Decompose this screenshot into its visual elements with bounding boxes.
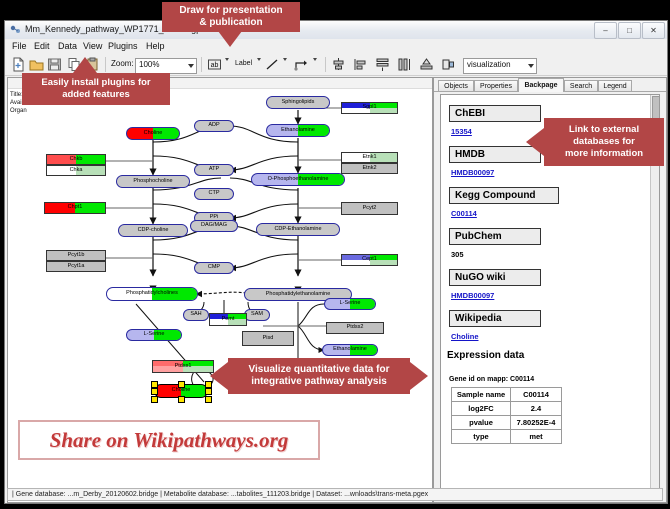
toolbar-separator-2 (201, 57, 202, 72)
node-label: Ethanolamine (333, 347, 367, 353)
db-header-nugo: NuGO wiki (449, 269, 541, 286)
group-icon[interactable] (441, 57, 456, 72)
new-file-icon[interactable] (11, 57, 26, 72)
distribute-vertical-icon[interactable] (375, 57, 390, 72)
node-label: L-Serine (144, 332, 165, 338)
gene-node-etnk2[interactable]: Etnk2 (341, 163, 398, 174)
cell-sample-name-key: Sample name (452, 388, 511, 402)
table-row: log2FC 2.4 (452, 402, 562, 416)
callout-share-wikipathways: Share on Wikipathways.org (18, 420, 320, 460)
save-icon[interactable] (47, 57, 62, 72)
db-header-chebi: ChEBI (449, 105, 541, 122)
gene-node-chka[interactable]: Chka (46, 165, 106, 176)
metabolite-node-phosphatidylcholines[interactable]: Phosphatidylcholines (106, 287, 198, 301)
callout-install-plugins: Easily install plugins for added feature… (22, 73, 170, 105)
callout-arrow-left-links (526, 128, 544, 156)
node-label: Ptdss1 (175, 364, 192, 370)
window-controls[interactable]: – □ ✕ (594, 22, 665, 39)
gene-id-on-mapp: Gene id on mapp: C00114 (449, 376, 534, 383)
app-icon (10, 24, 21, 35)
callout-external-links: Link to external databases for more info… (544, 118, 664, 166)
gene-node-chkb[interactable]: Chkb (46, 154, 106, 165)
share-text: Share on Wikipathways.org (50, 428, 289, 453)
selection-handle-nw[interactable] (151, 381, 158, 388)
node-label: O-Phosphoethanolamine (268, 177, 329, 183)
menu-view[interactable]: View (83, 41, 102, 51)
node-label: CDP-Ethanolamine (274, 227, 321, 233)
gene-node-chpt1[interactable]: Chpt1 (44, 202, 106, 214)
align-center-icon[interactable] (331, 57, 346, 72)
chevron-down-icon (528, 64, 534, 68)
node-label: Pcyt2 (363, 206, 377, 212)
node-label: ATP (209, 167, 219, 173)
metabolite-node-ethanolamine[interactable]: Ethanolamine (266, 124, 330, 137)
svg-text:ab: ab (211, 62, 219, 69)
metabolite-node-l-serine-right[interactable]: L-Serine (324, 298, 376, 310)
node-label: Etnk2 (362, 166, 376, 172)
selection-handle-se[interactable] (205, 396, 212, 403)
visualization-value: visualization (467, 60, 511, 69)
menu-bar: File Edit Data View Plugins Help (5, 39, 667, 55)
selection-handle-n[interactable] (178, 381, 185, 388)
status-bar: | Gene database: ...m_Derby_20120602.bri… (7, 488, 663, 501)
node-label: DAG/MAG (201, 223, 227, 229)
metabolite-node-l-serine-left[interactable]: L-Serine (126, 329, 182, 341)
callout-arrow-down-top (218, 31, 242, 47)
node-label: Sphingolipids (282, 100, 315, 106)
node-label: ADP (208, 123, 219, 129)
textbox-dropdown-icon[interactable] (225, 58, 229, 61)
toolbar-separator-3 (325, 57, 326, 72)
label-button[interactable]: Label (235, 60, 252, 67)
node-label: PPi (210, 215, 219, 221)
gene-node-cept1[interactable]: Cept1 (341, 254, 398, 266)
align-left-icon[interactable] (353, 57, 368, 72)
db-header-kegg: Kegg Compound (449, 187, 559, 204)
menu-file[interactable]: File (12, 41, 27, 51)
metabolite-node-ethanolamine-bottom[interactable]: Ethanolamine (322, 344, 378, 356)
callout-visualize-data: Visualize quantitative data for integrat… (228, 358, 410, 394)
node-label: CMP (208, 265, 220, 271)
node-label: Chka (70, 168, 83, 174)
zoom-combobox[interactable]: 100% (135, 58, 197, 74)
node-label: Ptdss2 (347, 325, 364, 331)
node-label: Cept1 (362, 257, 377, 263)
metabolite-node-ctp[interactable]: CTP (194, 188, 234, 200)
node-label: Pisd (263, 336, 274, 342)
table-row: type met (452, 430, 562, 444)
node-label: Pemt (222, 317, 235, 323)
gene-node-pcyt2[interactable]: Pcyt2 (341, 202, 398, 215)
cell-sample-name-val: C00114 (511, 388, 562, 402)
gene-node-pemt[interactable]: Pemt (209, 313, 247, 326)
stack-icon[interactable] (419, 57, 434, 72)
gene-node-etnk1[interactable]: Etnk1 (341, 152, 398, 163)
zoom-label: Zoom: (111, 59, 134, 68)
node-label: CDP-choline (138, 228, 169, 234)
metabolite-node-sam[interactable]: SAM (244, 309, 270, 321)
line-icon[interactable] (265, 57, 280, 72)
metabolite-node-choline-top[interactable]: Choline (126, 127, 180, 140)
node-label: Ethanolamine (281, 128, 315, 134)
gene-node-pisd[interactable]: Pisd (242, 331, 294, 346)
table-row: pvalue 7.80252E-4 (452, 416, 562, 430)
node-label: Phosphatidylethanolamine (266, 292, 331, 298)
db-link-nugo[interactable]: HMDB00097 (451, 291, 494, 300)
text-box-icon[interactable]: ab (207, 57, 222, 72)
connector-dropdown-icon[interactable] (313, 58, 317, 61)
selection-handle-w[interactable] (151, 388, 158, 395)
menu-plugins[interactable]: Plugins (108, 41, 138, 51)
maximize-button[interactable]: □ (618, 22, 641, 39)
gene-node-ptdss2[interactable]: Ptdss2 (326, 322, 384, 334)
node-label: Choline (172, 388, 191, 394)
selection-handle-sw[interactable] (151, 396, 158, 403)
node-label: SAH (190, 312, 201, 318)
arrow-connector-icon[interactable] (293, 57, 308, 72)
expression-table: Sample name C00114 log2FC 2.4 pvalue 7.8… (451, 387, 562, 444)
db-value-pubchem: 305 (451, 250, 464, 259)
db-header-pubchem: PubChem (449, 228, 541, 245)
selection-handle-s[interactable] (178, 396, 185, 403)
node-label: Choline (144, 131, 163, 137)
cell-log2fc-key: log2FC (452, 402, 511, 416)
node-label: Pcyt1a (68, 264, 85, 270)
db-link-hmdb[interactable]: HMDB00097 (451, 168, 494, 177)
menu-data[interactable]: Data (58, 41, 77, 51)
db-link-wikipedia[interactable]: Choline (451, 332, 479, 341)
toolbar-separator-1 (105, 57, 106, 72)
cell-type-key: type (452, 430, 511, 444)
node-label: Sgpl1 (362, 105, 376, 111)
metabolite-node-sphingolipids[interactable]: Sphingolipids (266, 96, 330, 109)
line-dropdown-icon[interactable] (283, 58, 287, 61)
metabolite-node-cmp[interactable]: CMP (194, 262, 234, 274)
chevron-down-icon (188, 64, 194, 68)
gene-node-pcyt1b[interactable]: Pcyt1b (46, 250, 106, 261)
close-button[interactable]: ✕ (642, 22, 665, 39)
node-label: Etnk1 (362, 155, 376, 161)
open-folder-icon[interactable] (29, 57, 44, 72)
node-label: Phosphatidylcholines (126, 291, 178, 297)
cell-pvalue-key: pvalue (452, 416, 511, 430)
panel-tabs: Objects Properties Backpage Search Legen… (434, 78, 666, 92)
metabolite-node-adp[interactable]: ADP (194, 120, 234, 132)
cell-type-val: met (511, 430, 562, 444)
callout-arrow-up-plugins (73, 57, 97, 73)
label-dropdown-icon[interactable] (257, 58, 261, 61)
menu-help[interactable]: Help (146, 41, 165, 51)
metabolite-node-phosphocholine[interactable]: Phosphocholine (116, 175, 190, 188)
expression-data-heading: Expression data (447, 350, 524, 361)
gene-node-ptdss1[interactable]: Ptdss1 (152, 360, 214, 373)
callout-draw-for-publication: Draw for presentation & publication (162, 2, 300, 32)
gene-node-pcyt1a[interactable]: Pcyt1a (46, 261, 106, 272)
menu-edit[interactable]: Edit (34, 41, 50, 51)
metabolite-node-cdp-choline[interactable]: CDP-choline (118, 224, 188, 237)
db-header-wikipedia: Wikipedia (449, 310, 541, 327)
db-link-kegg[interactable]: C00114 (451, 209, 477, 218)
node-label: SAM (251, 312, 263, 318)
db-link-chebi[interactable]: 15354 (451, 127, 472, 136)
node-label: Chpt1 (68, 205, 83, 211)
tab-backpage[interactable]: Backpage (518, 78, 564, 92)
metabolite-node-atp[interactable]: ATP (194, 164, 234, 176)
visualization-combobox[interactable]: visualization (463, 58, 537, 74)
metabolite-node-o-phosphoethanolamine[interactable]: O-Phosphoethanolamine (251, 173, 345, 186)
node-label: Phosphocholine (133, 179, 172, 185)
distribute-horizontal-icon[interactable] (397, 57, 412, 72)
metabolite-node-cdp-ethanolamine[interactable]: CDP-Ethanolamine (256, 223, 340, 236)
gene-node-sgpl1[interactable]: Sgpl1 (341, 102, 398, 114)
table-row: Sample name C00114 (452, 388, 562, 402)
node-label: CTP (209, 191, 220, 197)
callout-arrow-left-visualize (210, 362, 228, 390)
minimize-button[interactable]: – (594, 22, 617, 39)
metabolite-node-dagmag[interactable]: DAG/MAG (190, 220, 238, 232)
node-label: Chkb (70, 157, 83, 163)
node-label: L-Serine (340, 301, 361, 307)
metabolite-node-sah[interactable]: SAH (183, 309, 209, 321)
callout-arrow-right-visualize (410, 362, 428, 390)
zoom-value: 100% (139, 60, 159, 69)
cell-pvalue-val: 7.80252E-4 (511, 416, 562, 430)
screenshot-root: Mm_Kennedy_pathway_WP1771_45176.gpml – □… (0, 0, 670, 509)
title-bar: Mm_Kennedy_pathway_WP1771_45176.gpml – □… (5, 21, 667, 40)
node-label: Pcyt1b (68, 253, 85, 259)
cell-log2fc-val: 2.4 (511, 402, 562, 416)
